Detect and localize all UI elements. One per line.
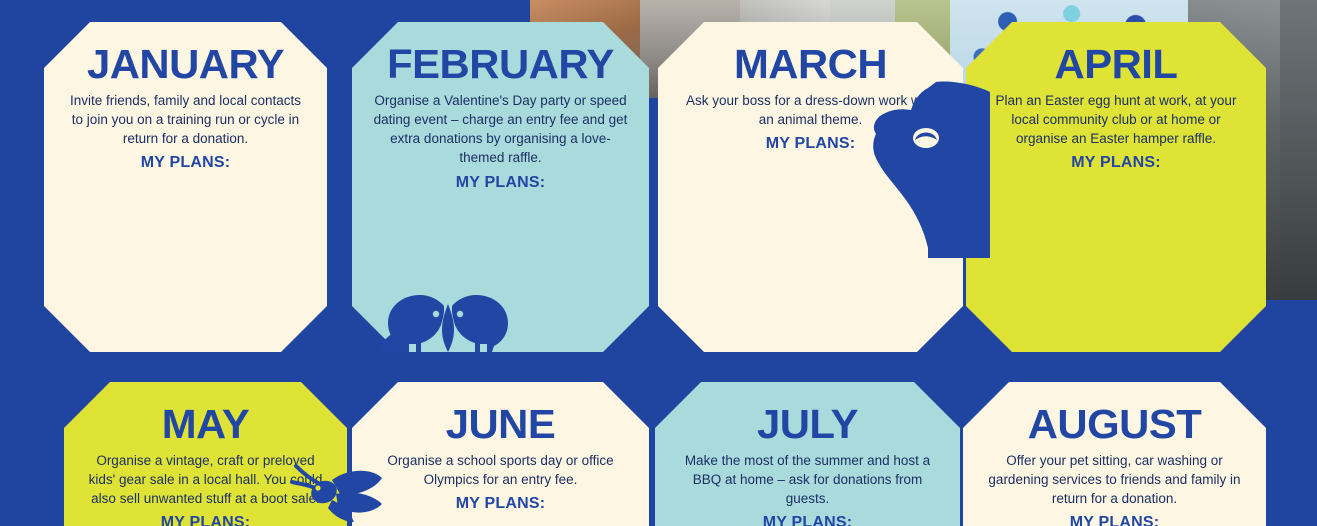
my-plans-label: MY PLANS: — [366, 495, 635, 513]
month-description: Organise a school sports day or office O… — [372, 451, 629, 489]
month-card-april[interactable]: APRIL Plan an Easter egg hunt at work, a… — [966, 22, 1266, 352]
my-plans-label: MY PLANS: — [672, 135, 949, 153]
month-card-july[interactable]: JULY Make the most of the summer and hos… — [655, 382, 960, 526]
calendar-planner-page: JANUARY Invite friends, family and local… — [0, 0, 1317, 526]
my-plans-label: MY PLANS: — [58, 154, 313, 172]
month-title: APRIL — [977, 44, 1254, 85]
my-plans-label: MY PLANS: — [669, 514, 946, 526]
month-title: JUNE — [363, 404, 637, 445]
month-title: FEBRUARY — [363, 44, 637, 85]
month-description: Make the most of the summer and host a B… — [675, 451, 940, 508]
my-plans-label: MY PLANS: — [977, 514, 1252, 526]
month-card-august[interactable]: AUGUST Offer your pet sitting, car washi… — [963, 382, 1266, 526]
month-description: Organise a vintage, craft or preloved ki… — [84, 451, 327, 508]
month-card-february[interactable]: FEBRUARY Organise a Valentine's Day part… — [352, 22, 649, 352]
month-card-january[interactable]: JANUARY Invite friends, family and local… — [44, 22, 327, 352]
month-card-may[interactable]: MAY Organise a vintage, craft or prelove… — [64, 382, 347, 526]
month-card-march[interactable]: MARCH Ask your boss for a dress-down wor… — [658, 22, 963, 352]
month-title: JULY — [666, 404, 949, 445]
month-card-june[interactable]: JUNE Organise a school sports day or off… — [352, 382, 649, 526]
month-description: Plan an Easter egg hunt at work, at your… — [986, 91, 1246, 148]
month-title: MARCH — [669, 44, 952, 85]
month-description: Offer your pet sitting, car washing or g… — [983, 451, 1246, 508]
month-title: JANUARY — [55, 44, 315, 85]
month-description: Ask your boss for a dress-down work with… — [678, 91, 943, 129]
month-title: MAY — [75, 404, 335, 445]
month-title: AUGUST — [974, 404, 1255, 445]
month-description: Invite friends, family and local contact… — [64, 91, 307, 148]
month-card-grid: JANUARY Invite friends, family and local… — [0, 0, 1317, 526]
my-plans-label: MY PLANS: — [78, 514, 333, 526]
my-plans-label: MY PLANS: — [366, 174, 635, 192]
my-plans-label: MY PLANS: — [980, 154, 1252, 172]
month-description: Organise a Valentine's Day party or spee… — [372, 91, 629, 168]
